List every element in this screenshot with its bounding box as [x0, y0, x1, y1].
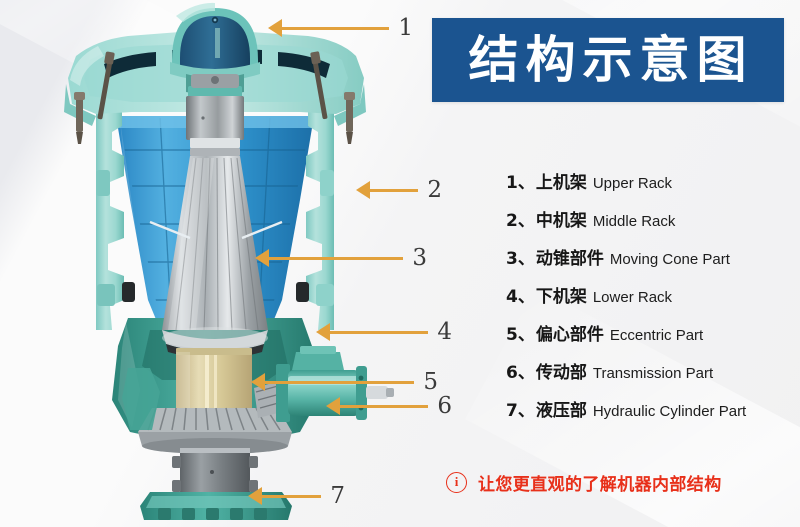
legend-label-en: Eccentric Part: [610, 327, 703, 344]
legend-label-en: Transmission Part: [593, 365, 713, 382]
callout-number: 4: [437, 321, 452, 344]
legend-index: 4、: [506, 282, 535, 307]
callout-number: 7: [330, 485, 345, 508]
legend-label-en: Lower Rack: [593, 289, 672, 306]
arrow-head-icon: [268, 19, 282, 37]
callout-number: 6: [437, 395, 452, 418]
legend-index: 6、: [506, 358, 535, 383]
legend-label-cn: 偏心部件: [536, 320, 604, 345]
arrow-head-icon: [248, 487, 262, 505]
arrow-line: [370, 189, 418, 192]
legend-label-cn: 液压部: [536, 396, 587, 421]
footer-note: i 让您更直观的了解机器内部结构: [446, 470, 722, 495]
legend-index: 2、: [506, 206, 535, 231]
legend-item-6: 6、 传动部 Transmission Part: [506, 358, 796, 396]
legend-label-cn: 传动部: [536, 358, 587, 383]
legend-item-2: 2、 中机架 Middle Rack: [506, 206, 796, 244]
callout-number: 3: [412, 247, 427, 270]
callout-3: 3: [255, 246, 427, 270]
callout-number: 5: [423, 371, 438, 394]
legend-label-cn: 下机架: [536, 282, 587, 307]
legend-item-4: 4、 下机架 Lower Rack: [506, 282, 796, 320]
legend-label-cn: 上机架: [536, 168, 587, 193]
legend-label-cn: 中机架: [536, 206, 587, 231]
arrow-line: [340, 405, 428, 408]
callout-number: 1: [398, 17, 413, 40]
callout-5: 5: [251, 370, 438, 394]
legend-index: 3、: [506, 244, 535, 269]
legend-item-5: 5、 偏心部件 Eccentric Part: [506, 320, 796, 358]
title-banner: 结构示意图: [432, 18, 784, 102]
legend-label-cn: 动锥部件: [536, 244, 604, 269]
arrow-line: [262, 495, 321, 498]
callout-1: 1: [268, 16, 413, 40]
arrow-line: [282, 27, 389, 30]
legend-label-en: Moving Cone Part: [610, 251, 730, 268]
arrow-line: [265, 381, 414, 384]
screenshot-root: 1 2 3 4 5 6 7 结构示意图 1、 上机架: [0, 0, 800, 527]
callout-number: 2: [427, 179, 442, 202]
legend-label-en: Upper Rack: [593, 175, 672, 192]
legend-item-3: 3、 动锥部件 Moving Cone Part: [506, 244, 796, 282]
callout-6: 6: [326, 394, 452, 418]
eccentric-bushing: [176, 348, 252, 408]
arrow-head-icon: [326, 397, 340, 415]
arrow-head-icon: [316, 323, 330, 341]
info-circle-icon: i: [446, 472, 467, 493]
legend-index: 1、: [506, 168, 535, 193]
callout-7: 7: [248, 484, 345, 508]
legend-list: 1、 上机架 Upper Rack 2、 中机架 Middle Rack 3、 …: [506, 168, 796, 434]
arrow-line: [330, 331, 428, 334]
footer-text: 让您更直观的了解机器内部结构: [478, 470, 722, 495]
legend-item-1: 1、 上机架 Upper Rack: [506, 168, 796, 206]
arrow-head-icon: [251, 373, 265, 391]
legend-index: 5、: [506, 320, 535, 345]
legend-index: 7、: [506, 396, 535, 421]
main-shaft: [186, 74, 244, 156]
arrow-line: [269, 257, 403, 260]
legend-label-en: Hydraulic Cylinder Part: [593, 403, 746, 420]
callout-4: 4: [316, 320, 452, 344]
legend-label-en: Middle Rack: [593, 213, 676, 230]
callout-2: 2: [356, 178, 442, 202]
arrow-head-icon: [356, 181, 370, 199]
banner-title: 结构示意图: [463, 35, 754, 85]
arrow-head-icon: [255, 249, 269, 267]
legend-item-7: 7、 液压部 Hydraulic Cylinder Part: [506, 396, 796, 434]
